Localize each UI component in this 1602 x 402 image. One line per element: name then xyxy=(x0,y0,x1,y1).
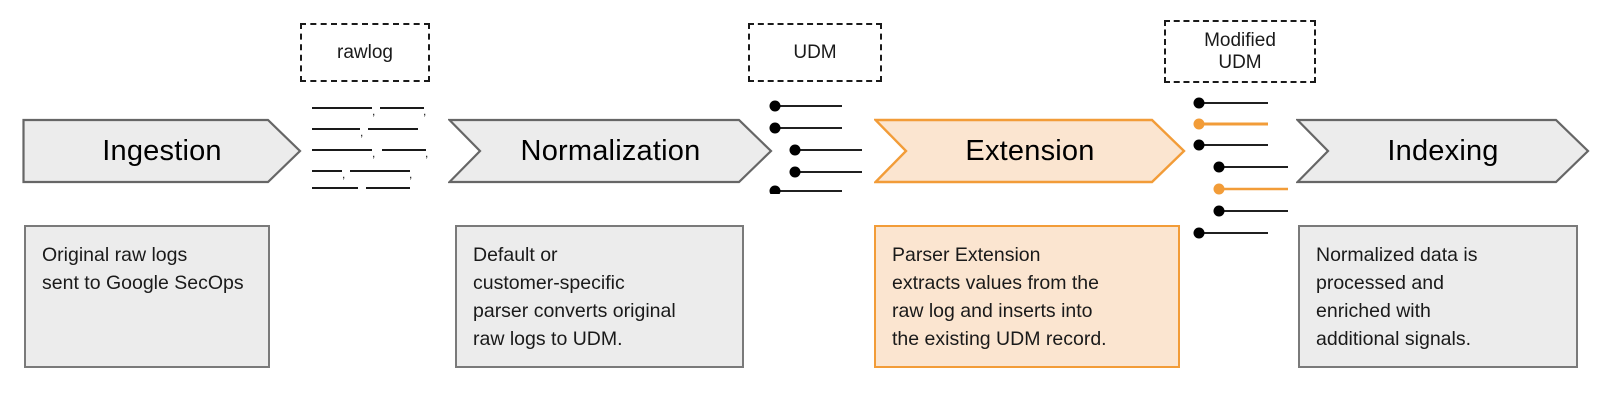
stage-normalization[interactable]: Normalization xyxy=(448,118,773,184)
description-text: Default or customer-specific parser conv… xyxy=(473,241,728,353)
stage-indexing[interactable]: Indexing xyxy=(1296,118,1590,184)
stage-extension[interactable]: Extension xyxy=(874,118,1186,184)
artifact-box-modified-udm: Modified UDM xyxy=(1164,20,1316,83)
stage-label: Extension xyxy=(965,135,1094,168)
svg-text:,: , xyxy=(409,167,412,181)
description-box-extension: Parser Extension extracts values from th… xyxy=(874,225,1180,368)
svg-text:,: , xyxy=(358,184,361,192)
svg-text:,: , xyxy=(423,104,426,118)
description-box-indexing: Normalized data is processed and enriche… xyxy=(1298,225,1578,368)
artifact-box-rawlog: rawlog xyxy=(300,23,430,82)
stage-label: Ingestion xyxy=(102,135,222,168)
description-text: Original raw logs sent to Google SecOps xyxy=(42,241,254,297)
stage-label: Normalization xyxy=(521,135,701,168)
svg-text:,: , xyxy=(425,146,428,160)
svg-text:,: , xyxy=(360,125,363,139)
svg-text:,: , xyxy=(372,104,375,118)
artifact-label: rawlog xyxy=(337,42,393,64)
stage-ingestion[interactable]: Ingestion xyxy=(22,118,302,184)
description-text: Parser Extension extracts values from th… xyxy=(892,241,1164,353)
artifact-box-udm: UDM xyxy=(748,23,882,82)
rawlog-lines-icon: ,, , ,, ,, , xyxy=(306,100,432,192)
pipeline-diagram: Ingestion rawlog ,, , ,, ,, xyxy=(0,0,1602,402)
svg-text:,: , xyxy=(372,146,375,160)
artifact-label: UDM xyxy=(793,42,836,64)
description-box-ingestion: Original raw logs sent to Google SecOps xyxy=(24,225,270,368)
stage-label: Indexing xyxy=(1387,135,1498,168)
artifact-label: Modified UDM xyxy=(1204,30,1276,74)
description-text: Normalized data is processed and enriche… xyxy=(1316,241,1562,353)
modified-udm-bullet-list-icon xyxy=(1190,95,1294,240)
svg-text:,: , xyxy=(342,167,345,181)
udm-bullet-list-icon xyxy=(766,98,866,194)
description-box-normalization: Default or customer-specific parser conv… xyxy=(455,225,744,368)
